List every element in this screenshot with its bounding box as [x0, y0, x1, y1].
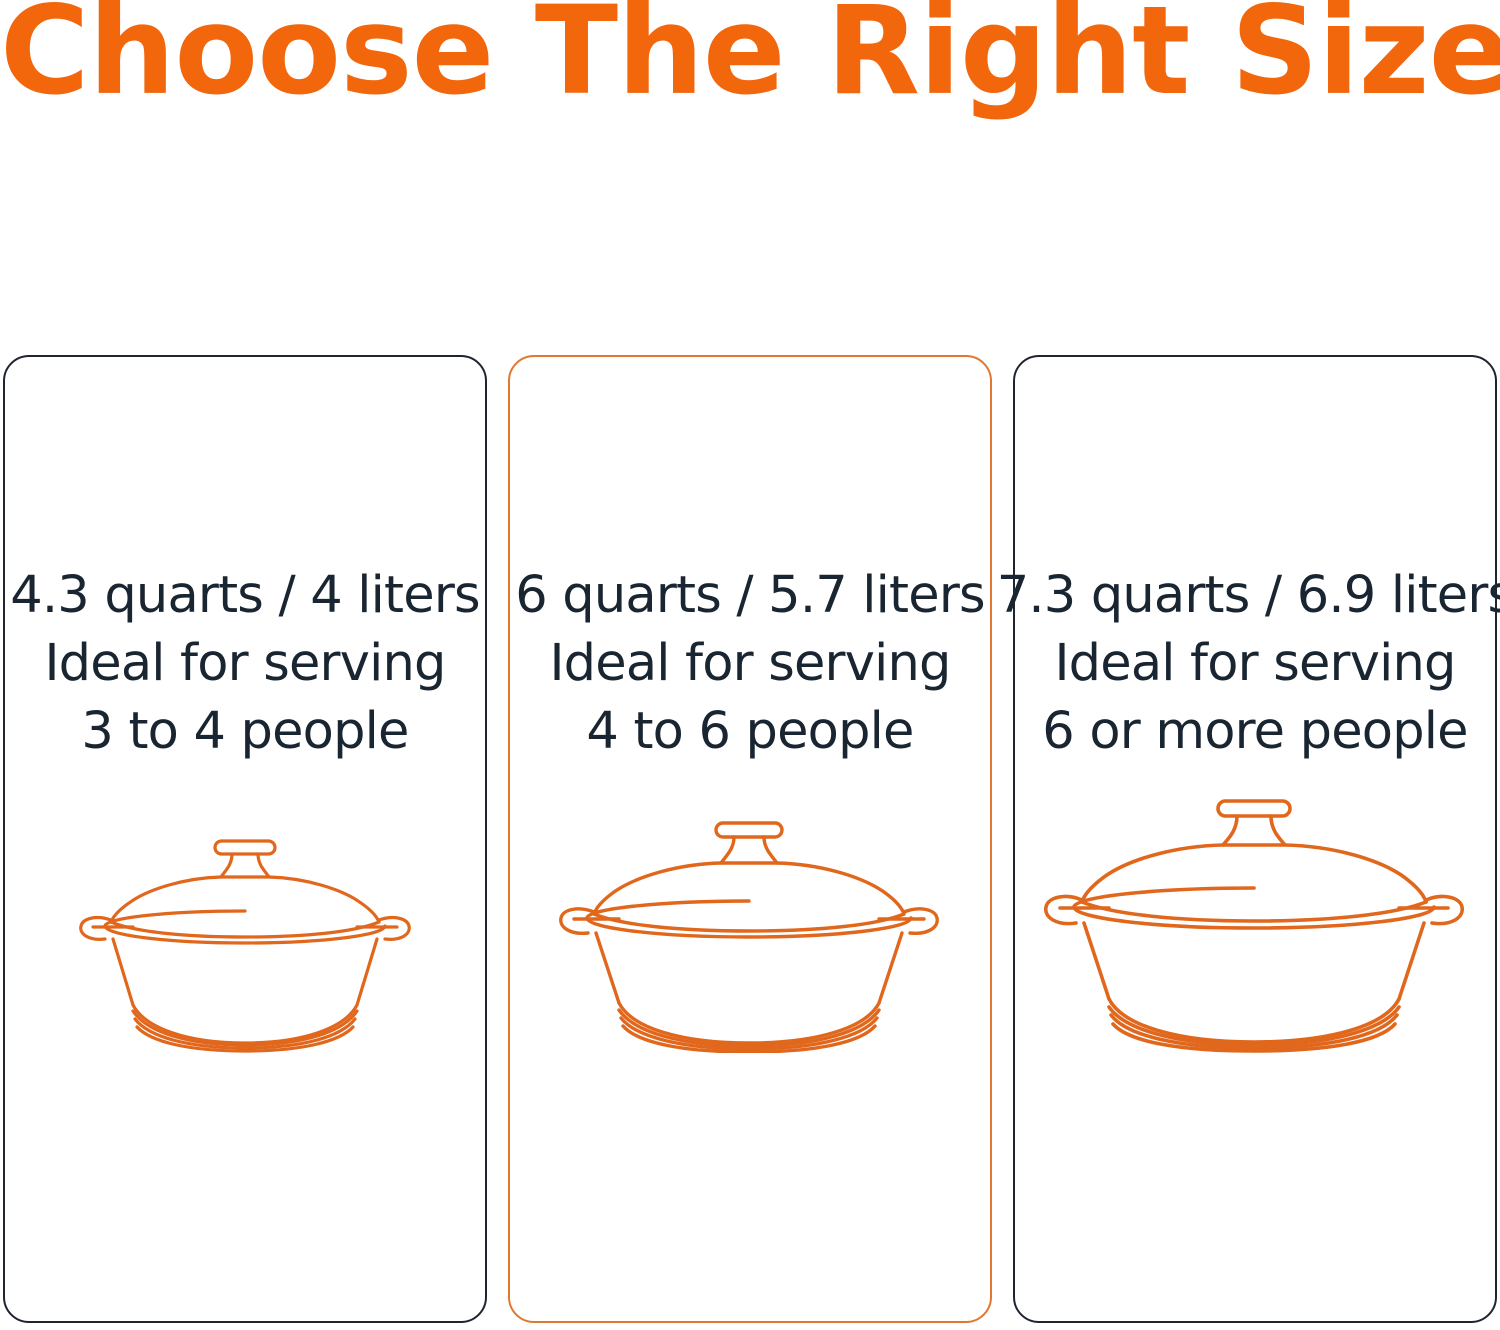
dutch-oven-icon: [1040, 787, 1470, 1053]
size-card-large[interactable]: 7.3 quarts / 6.9 liters Ideal for servin…: [1013, 355, 1497, 1323]
serving-count-label: 6 or more people: [997, 698, 1500, 766]
page-title: Choose The Right Size: [0, 0, 1500, 118]
size-cards-row: 4.3 quarts / 4 liters Ideal for serving …: [3, 355, 1497, 1323]
serving-label: Ideal for serving: [515, 630, 985, 698]
size-card-small[interactable]: 4.3 quarts / 4 liters Ideal for serving …: [3, 355, 487, 1323]
dutch-oven-illustration-small: [5, 823, 485, 1053]
serving-label: Ideal for serving: [10, 630, 480, 698]
dutch-oven-icon: [555, 807, 945, 1053]
dutch-oven-illustration-medium: [510, 807, 990, 1053]
size-card-small-text: 4.3 quarts / 4 liters Ideal for serving …: [10, 562, 480, 766]
dutch-oven-icon: [75, 823, 415, 1053]
size-card-large-text: 7.3 quarts / 6.9 liters Ideal for servin…: [997, 562, 1500, 766]
serving-count-label: 4 to 6 people: [515, 698, 985, 766]
serving-label: Ideal for serving: [997, 630, 1500, 698]
serving-count-label: 3 to 4 people: [10, 698, 480, 766]
size-card-medium[interactable]: 6 quarts / 5.7 liters Ideal for serving …: [508, 355, 992, 1323]
size-card-medium-text: 6 quarts / 5.7 liters Ideal for serving …: [515, 562, 985, 766]
capacity-label: 7.3 quarts / 6.9 liters: [997, 562, 1500, 630]
dutch-oven-illustration-large: [1015, 787, 1495, 1053]
capacity-label: 4.3 quarts / 4 liters: [10, 562, 480, 630]
capacity-label: 6 quarts / 5.7 liters: [515, 562, 985, 630]
